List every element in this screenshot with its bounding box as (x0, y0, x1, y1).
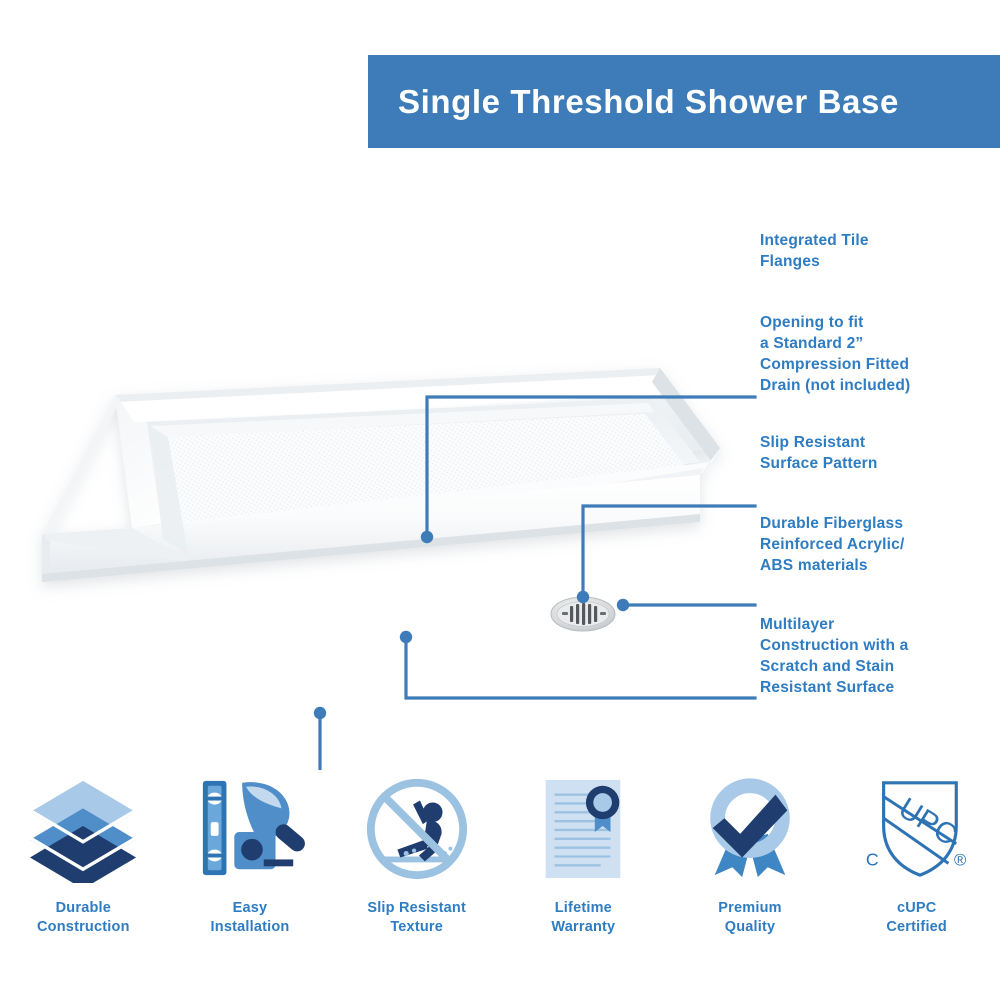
callout-durable-fiberglass-materials: Durable Fiberglass Reinforced Acrylic/ A… (760, 513, 905, 576)
stacked-layers-icon (24, 775, 142, 883)
infographic-page: Single Threshold Shower Base (0, 0, 1000, 1000)
feature-easy-installation: Easy Installation (167, 775, 334, 975)
feature-label: Slip Resistant Texture (367, 899, 466, 937)
feature-label: Easy Installation (211, 899, 290, 937)
feature-label: Premium Quality (718, 899, 781, 937)
leader-line-multilayer (320, 713, 755, 770)
feature-strip: Durable Construction (0, 775, 1000, 975)
registered-mark: ® (954, 850, 967, 869)
feature-label: Lifetime Warranty (551, 899, 615, 937)
cupc-prefix-c: C (866, 849, 879, 869)
anchor-dot-fiberglass (400, 631, 412, 643)
anchor-dot-drain-opening (577, 591, 589, 603)
anchor-dot-tile-flanges (421, 531, 433, 543)
feature-lifetime-warranty: Lifetime Warranty (500, 775, 667, 975)
anchor-dot-multilayer (314, 707, 326, 719)
feature-label: Durable Construction (37, 899, 130, 937)
page-title: Single Threshold Shower Base (398, 83, 899, 121)
callout-slip-resistant-surface-pattern: Slip Resistant Surface Pattern (760, 432, 878, 474)
no-slip-icon (358, 775, 476, 883)
level-trowel-tape-icon (191, 775, 309, 883)
feature-label: cUPC Certified (886, 899, 947, 937)
feature-slip-resistant-texture: Slip Resistant Texture (333, 775, 500, 975)
upc-shield-icon: UPC C ® (858, 775, 976, 883)
title-banner: Single Threshold Shower Base (368, 55, 1000, 148)
callout-integrated-tile-flanges: Integrated Tile Flanges (760, 230, 869, 272)
feature-durable-construction: Durable Construction (0, 775, 167, 975)
product-hero: Integrated Tile Flanges Opening to fit a… (0, 150, 1000, 770)
anchor-dot-slip-resistant (617, 599, 629, 611)
feature-cupc-certified: UPC C ® cUPC Certified (833, 775, 1000, 975)
certificate-icon (524, 775, 642, 883)
leader-line-fiberglass (406, 637, 755, 698)
feature-premium-quality: Premium Quality (667, 775, 834, 975)
callout-multilayer-construction: Multilayer Construction with a Scratch a… (760, 614, 908, 698)
checkmark-rosette-icon (691, 775, 809, 883)
shower-pan (42, 368, 720, 582)
callout-drain-opening: Opening to fit a Standard 2” Compression… (760, 312, 910, 396)
